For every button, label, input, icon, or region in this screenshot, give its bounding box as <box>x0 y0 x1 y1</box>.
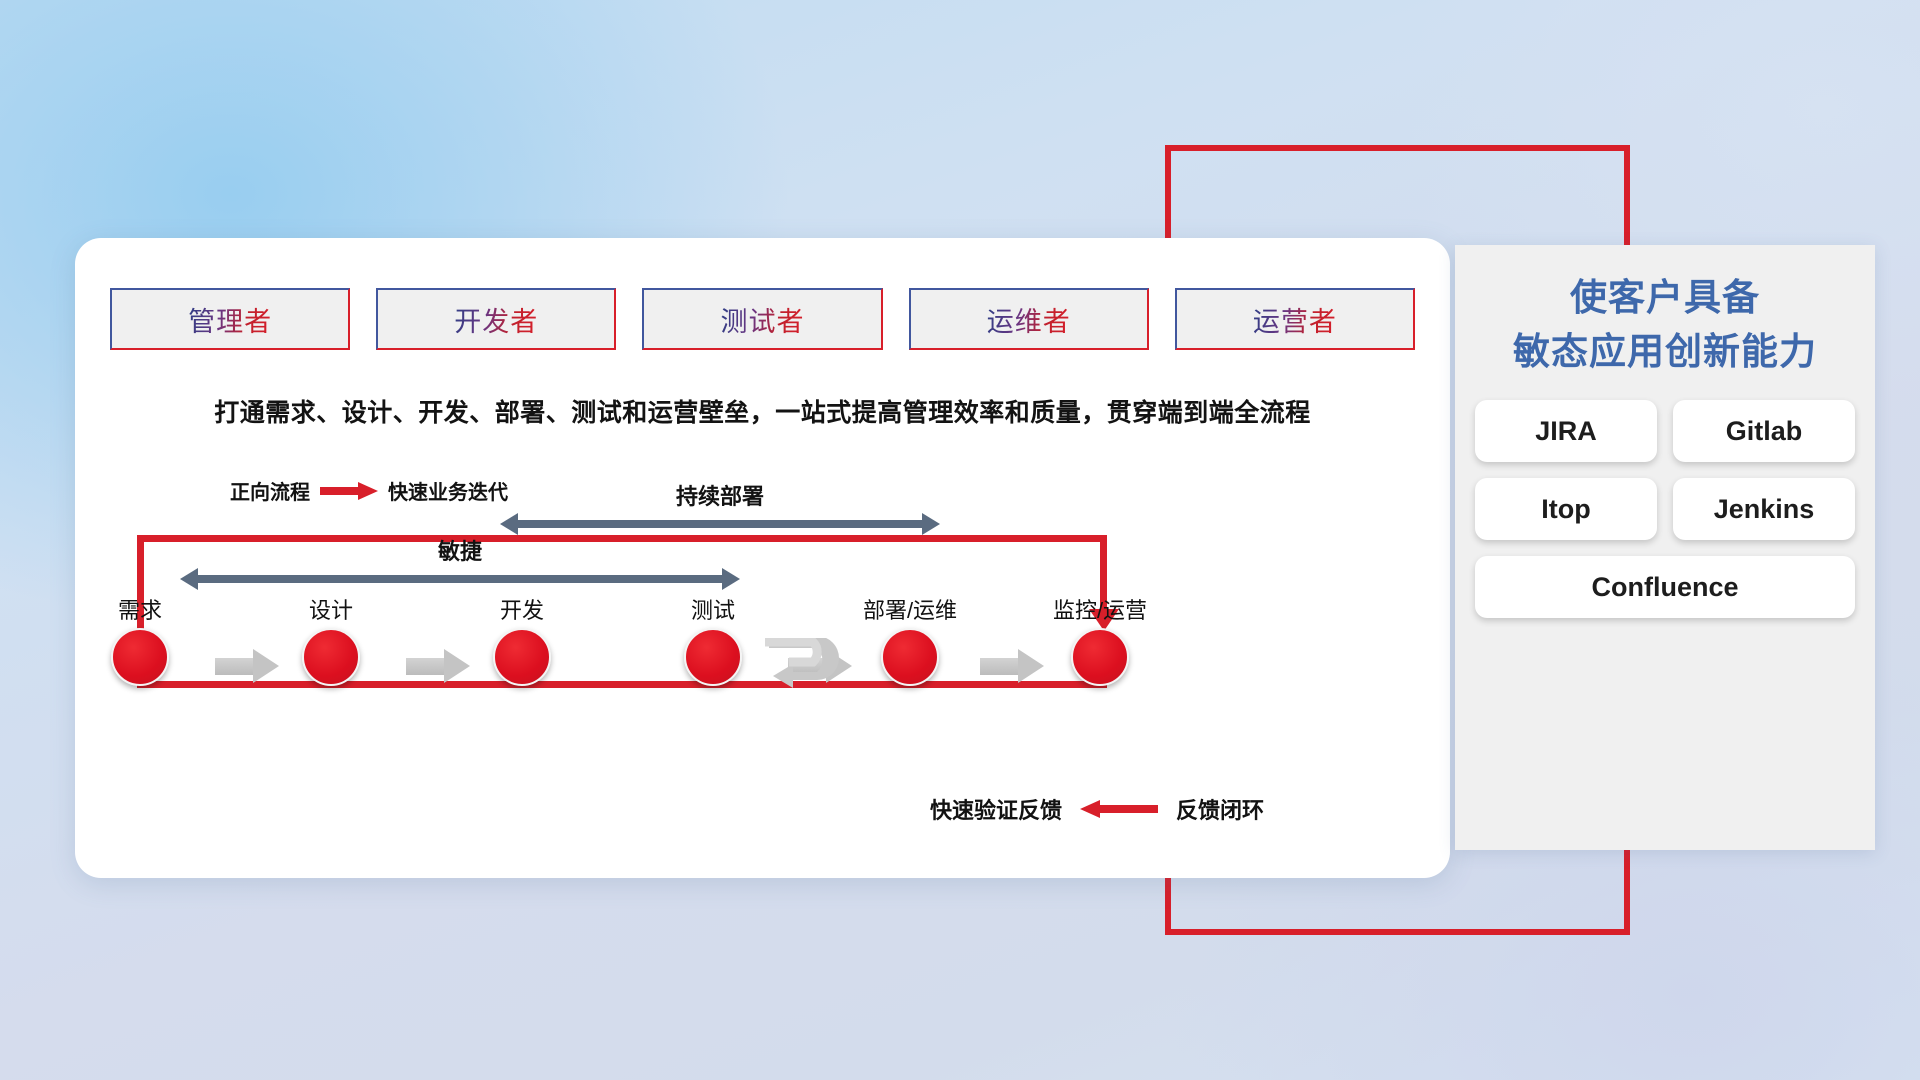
tools-grid: JIRA Gitlab Itop Jenkins Confluence <box>1475 400 1855 618</box>
tool-chip-jira[interactable]: JIRA <box>1475 400 1657 462</box>
forward-flow-right-label: 快速业务迭代 <box>388 476 508 505</box>
role-box-developer[interactable]: 开发者 <box>376 288 616 350</box>
connector-arrow-2-icon <box>406 649 470 683</box>
forward-flow-left-label: 正向流程 <box>230 476 310 505</box>
stage-label: 设计 <box>271 593 391 625</box>
stage-dot-icon <box>1071 628 1129 686</box>
role-label: 开发者 <box>454 300 538 339</box>
connector-arrow-1-icon <box>215 649 279 683</box>
arrow-head-right-icon <box>722 568 740 590</box>
arrow-right-icon <box>320 482 378 500</box>
role-label: 测试者 <box>721 300 805 339</box>
stage-dot-icon <box>302 628 360 686</box>
role-box-tester[interactable]: 测试者 <box>642 288 882 350</box>
connector-arrow-4-icon <box>980 649 1044 683</box>
agile-label: 敏捷 <box>180 534 740 566</box>
main-content-card: 管理者 开发者 测试者 运维者 运营者 打通需求、设计、开发、部署、测试和运营壁… <box>75 238 1450 878</box>
arrow-left-icon <box>1080 800 1158 818</box>
stage-dot-icon <box>111 628 169 686</box>
agile-span-arrow: 敏捷 <box>180 568 740 590</box>
pipeline-stage-deploy-ops[interactable]: 部署/运维 <box>850 593 970 686</box>
pipeline-row: 需求 设计 开发 测试 部署/运维 监控/运营 <box>75 593 1450 713</box>
stage-dot-icon <box>881 628 939 686</box>
feedback-row: 快速验证反馈 反馈闭环 <box>930 793 1264 825</box>
stage-dot-icon <box>493 628 551 686</box>
stage-label: 监控/运营 <box>1040 593 1160 625</box>
stage-label: 开发 <box>462 593 582 625</box>
tool-chip-jenkins[interactable]: Jenkins <box>1673 478 1855 540</box>
continuous-deployment-span-arrow: 持续部署 <box>500 513 940 535</box>
pipeline-stage-testing[interactable]: 测试 <box>653 593 773 686</box>
arrow-head-right-icon <box>922 513 940 535</box>
tool-chip-gitlab[interactable]: Gitlab <box>1673 400 1855 462</box>
panel-title-line2: 敏态应用创新能力 <box>1475 325 1855 379</box>
rework-loop-icon <box>765 638 851 698</box>
pipeline-stage-design[interactable]: 设计 <box>271 593 391 686</box>
stage-dot-icon <box>684 628 742 686</box>
pipeline-stage-requirement[interactable]: 需求 <box>80 593 200 686</box>
feedback-right-label: 反馈闭环 <box>1176 793 1264 825</box>
tools-panel: 使客户具备 敏态应用创新能力 JIRA Gitlab Itop Jenkins … <box>1455 245 1875 850</box>
continuous-deployment-label: 持续部署 <box>500 479 940 511</box>
arrow-bar <box>516 520 924 528</box>
slide-canvas: 管理者 开发者 测试者 运维者 运营者 打通需求、设计、开发、部署、测试和运营壁… <box>0 0 1920 1080</box>
tool-chip-confluence[interactable]: Confluence <box>1475 556 1855 618</box>
role-label: 运维者 <box>987 300 1071 339</box>
tagline-text: 打通需求、设计、开发、部署、测试和运营壁垒，一站式提高管理效率和质量，贯穿端到端… <box>75 393 1450 429</box>
forward-flow-row: 正向流程 快速业务迭代 <box>230 476 508 505</box>
role-boxes-row: 管理者 开发者 测试者 运维者 运营者 <box>110 288 1415 350</box>
role-label: 运营者 <box>1253 300 1337 339</box>
pipeline-stage-monitor-operations[interactable]: 监控/运营 <box>1040 593 1160 686</box>
role-box-manager[interactable]: 管理者 <box>110 288 350 350</box>
role-box-ops[interactable]: 运维者 <box>909 288 1149 350</box>
stage-label: 部署/运维 <box>850 593 970 625</box>
role-box-operations[interactable]: 运营者 <box>1175 288 1415 350</box>
tool-chip-itop[interactable]: Itop <box>1475 478 1657 540</box>
feedback-left-label: 快速验证反馈 <box>930 793 1062 825</box>
stage-label: 测试 <box>653 593 773 625</box>
pipeline-stage-development[interactable]: 开发 <box>462 593 582 686</box>
arrow-bar <box>196 575 724 583</box>
panel-title-line1: 使客户具备 <box>1475 271 1855 325</box>
role-label: 管理者 <box>188 300 272 339</box>
stage-label: 需求 <box>80 593 200 625</box>
